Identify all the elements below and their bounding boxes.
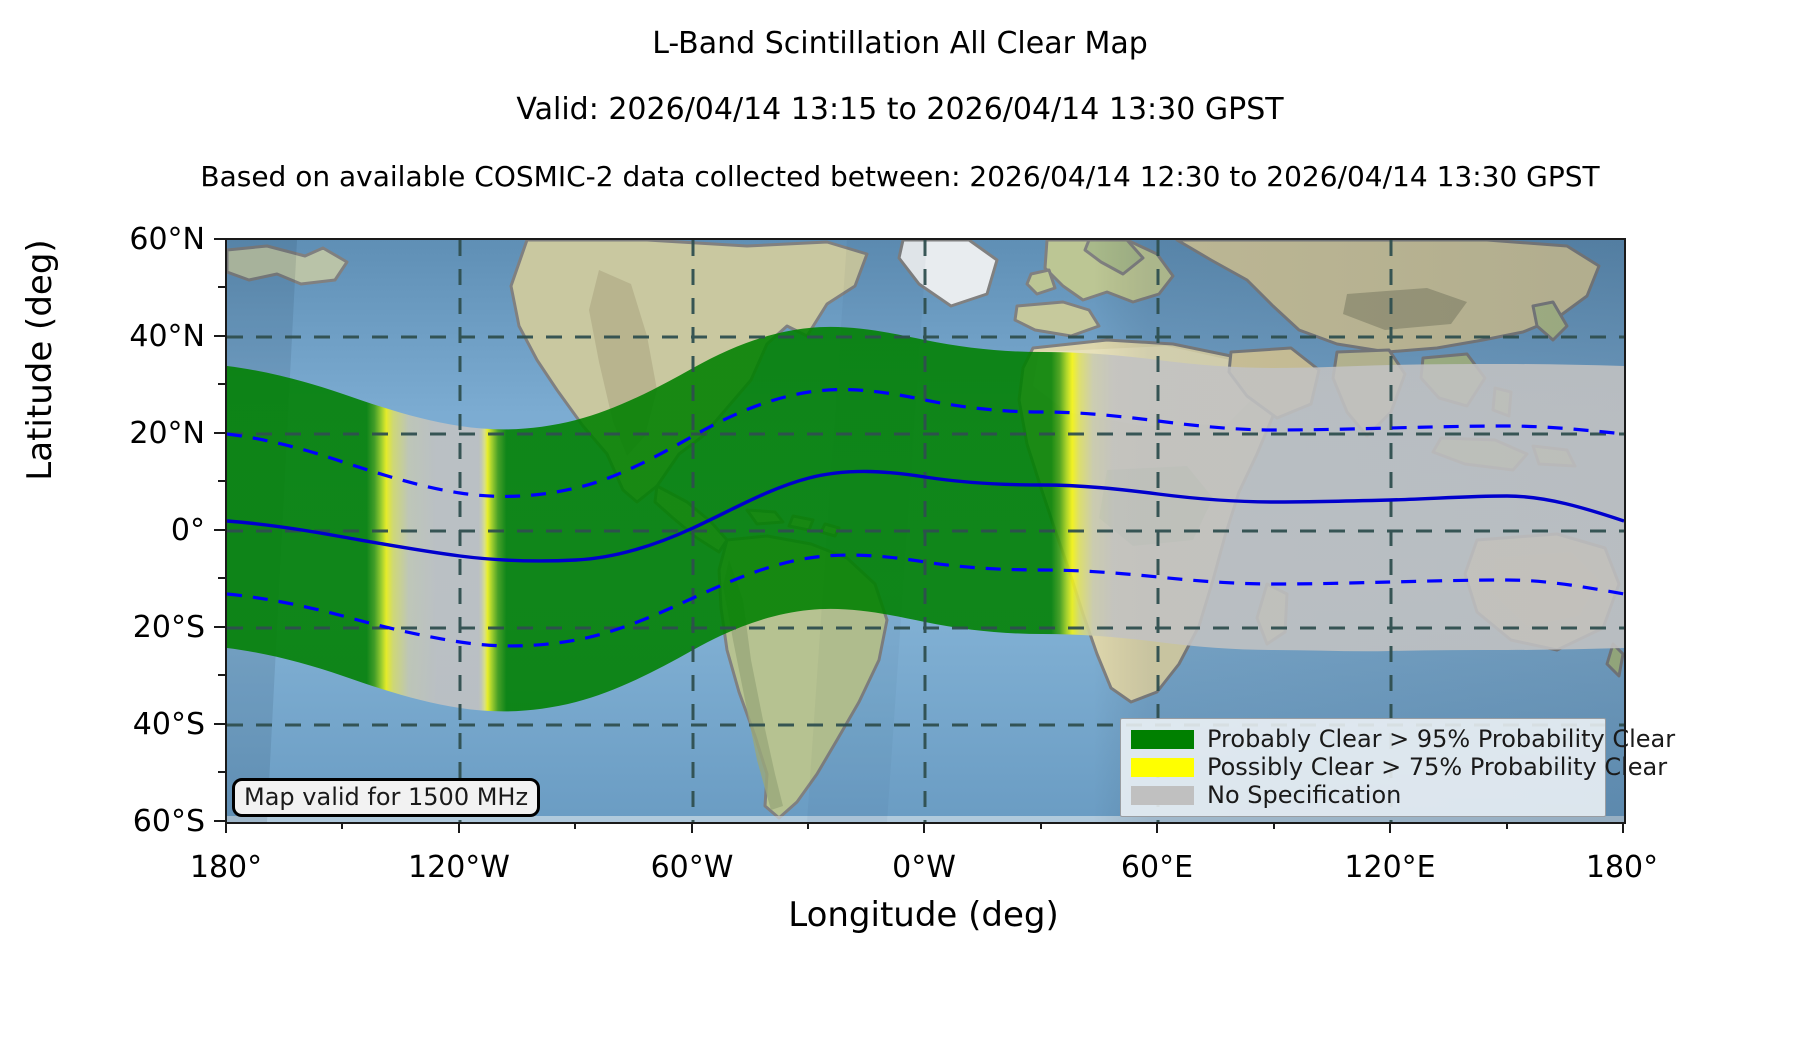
x-tick-label-180w: 180°: [126, 850, 326, 885]
legend-item-possibly-clear: Possibly Clear > 75% Probability Clear: [1131, 753, 1595, 781]
legend-item-probably-clear: Probably Clear > 95% Probability Clear: [1131, 725, 1595, 753]
legend-swatch-probably-clear: [1131, 730, 1194, 749]
legend-swatch-no-specification: [1131, 786, 1194, 805]
y-tick-mark: [214, 432, 225, 434]
frequency-annotation: Map valid for 1500 MHz: [232, 778, 540, 817]
y-tick-label-20s: 20°S: [45, 610, 205, 645]
y-tick-mark: [214, 626, 225, 628]
x-tick-label-60w: 60°W: [592, 850, 792, 885]
y-tick-label-60n: 60°N: [45, 222, 205, 257]
data-source-subtitle: Based on available COSMIC-2 data collect…: [0, 160, 1800, 193]
y-tick-label-20n: 20°N: [45, 416, 205, 451]
y-tick-mark-minor: [218, 480, 225, 482]
x-tick-label-120w: 120°W: [359, 850, 559, 885]
valid-period-subtitle: Valid: 2026/04/14 13:15 to 2026/04/14 13…: [0, 92, 1800, 127]
y-tick-mark-minor: [218, 286, 225, 288]
x-tick-label-120e: 120°E: [1290, 850, 1490, 885]
band-upper-bound-line: [227, 390, 1624, 497]
x-tick-label-180e: 180°: [1522, 850, 1722, 885]
map-legend: Probably Clear > 95% Probability Clear P…: [1120, 718, 1606, 817]
y-tick-mark-minor: [218, 674, 225, 676]
y-tick-mark-minor: [218, 577, 225, 579]
y-tick-label-0: 0°: [45, 513, 205, 548]
y-tick-mark: [214, 529, 225, 531]
band-lower-bound-line: [227, 555, 1624, 646]
y-tick-mark: [214, 723, 225, 725]
y-tick-mark: [214, 335, 225, 337]
legend-label-no-specification: No Specification: [1207, 781, 1401, 809]
y-tick-label-40s: 40°S: [45, 707, 205, 742]
legend-swatch-possibly-clear: [1131, 758, 1194, 777]
magnetic-equator-line: [227, 471, 1624, 560]
y-tick-mark: [214, 238, 225, 240]
legend-label-probably-clear: Probably Clear > 95% Probability Clear: [1207, 725, 1675, 753]
legend-label-possibly-clear: Possibly Clear > 75% Probability Clear: [1207, 753, 1667, 781]
page-title: L-Band Scintillation All Clear Map: [0, 26, 1800, 61]
x-axis-label: Longitude (deg): [225, 895, 1622, 935]
y-tick-mark-minor: [218, 771, 225, 773]
x-tick-label-0: 0°W: [824, 850, 1024, 885]
y-tick-label-40n: 40°N: [45, 319, 205, 354]
scintillation-map-figure: L-Band Scintillation All Clear Map Valid…: [0, 0, 1800, 1050]
y-tick-label-60s: 60°S: [45, 804, 205, 839]
y-axis-label: Latitude (deg): [20, 160, 60, 560]
legend-item-no-specification: No Specification: [1131, 781, 1595, 809]
y-tick-mark-minor: [218, 383, 225, 385]
x-tick-label-60e: 60°E: [1057, 850, 1257, 885]
y-tick-mark: [214, 820, 225, 822]
